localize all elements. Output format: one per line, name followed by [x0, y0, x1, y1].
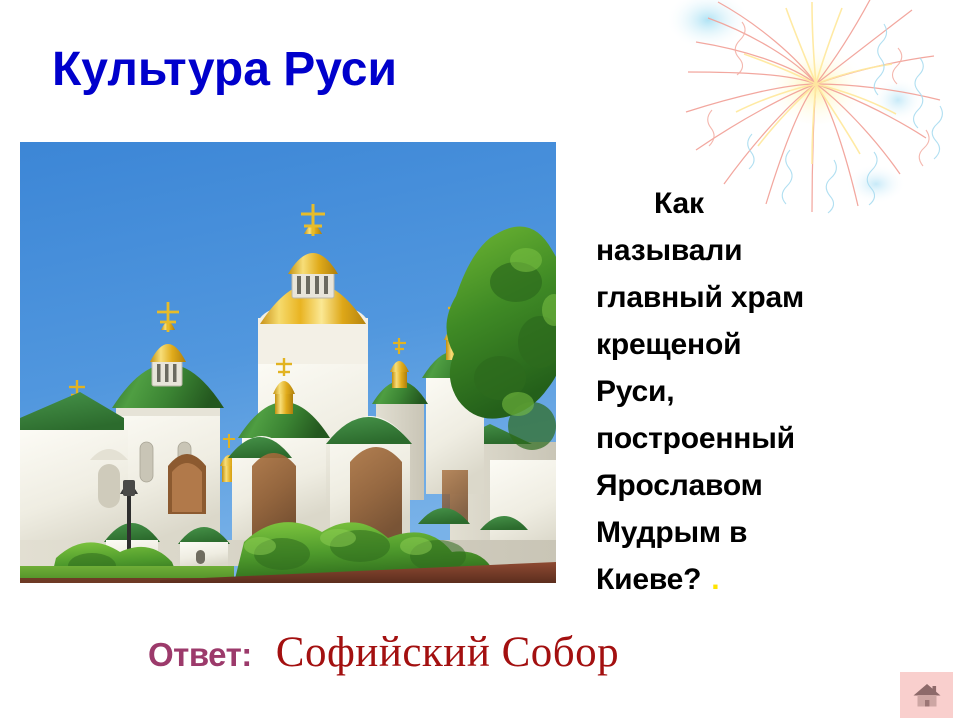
question-line-8: Мудрым в [596, 509, 946, 556]
home-button[interactable] [900, 672, 953, 718]
question-text: Как называли главный храм крещеной Руси,… [596, 180, 946, 603]
question-line-3: главный храм [596, 274, 946, 321]
question-line-6: построенный [596, 415, 946, 462]
question-trailing-dot: . [701, 563, 719, 596]
slide-canvas: Культура Руси [0, 0, 960, 720]
answer-row: Ответ: Софийский Собор [148, 628, 619, 677]
question-line-7: Ярославом [596, 462, 946, 509]
answer-value: Софийский Собор [276, 628, 619, 677]
answer-label: Ответ: [148, 636, 252, 674]
home-icon [912, 682, 942, 709]
question-line-2: называли [596, 227, 946, 274]
question-line-9-text: Киеве? [596, 563, 701, 596]
question-line-9: Киеве?. [596, 556, 946, 603]
question-line-1: Как [596, 180, 946, 227]
question-line-4: крещеной [596, 321, 946, 368]
page-title: Культура Руси [52, 45, 397, 95]
cathedral-photo [20, 142, 556, 583]
question-line-5: Руси, [596, 368, 946, 415]
